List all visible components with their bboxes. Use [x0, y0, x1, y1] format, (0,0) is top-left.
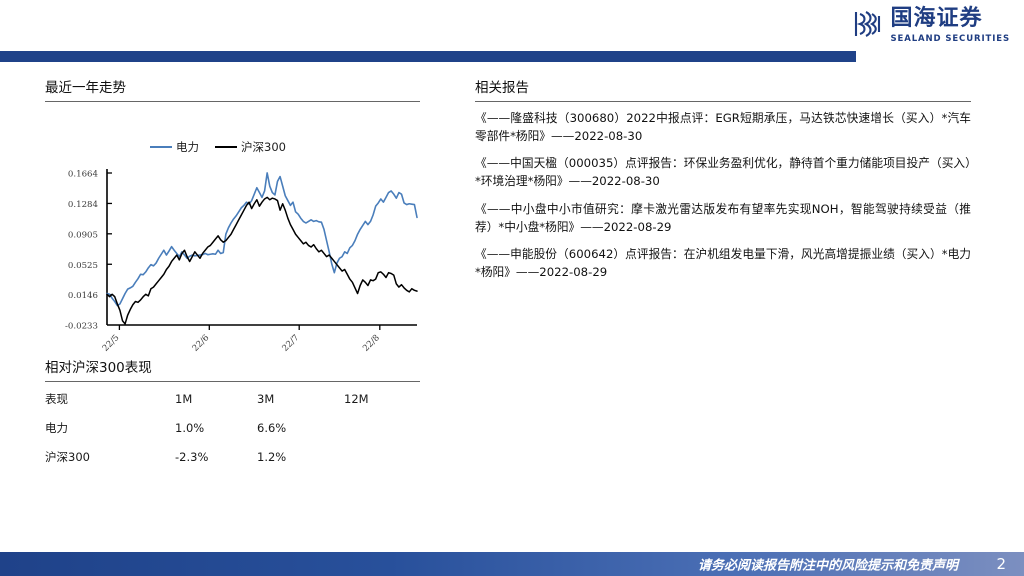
performance-table: 表现 1M 3M 12M 电力 1.0% 6.6% 沪深300 -2.3% 1.…: [45, 384, 420, 471]
svg-text:-0.0233: -0.0233: [65, 322, 98, 332]
svg-text:22/7: 22/7: [281, 333, 302, 354]
svg-text:0.0905: 0.0905: [68, 230, 98, 240]
performance-title-divider: [45, 381, 420, 382]
svg-text:0.1284: 0.1284: [68, 200, 99, 210]
row-label-power: 电力: [45, 413, 175, 442]
table-row: 电力 1.0% 6.6%: [45, 413, 420, 442]
logo-chinese-name: 国海证券: [891, 8, 983, 30]
svg-text:22/5: 22/5: [101, 333, 122, 354]
performance-title: 相对沪深300表现: [45, 356, 420, 376]
table-row: 沪深300 -2.3% 1.2%: [45, 442, 420, 471]
chart-title: 最近一年走势: [45, 76, 420, 96]
list-item[interactable]: 《——隆盛科技（300680）2022中报点评：EGR短期承压，马达铁芯快速增长…: [475, 109, 971, 145]
svg-text:0.1664: 0.1664: [68, 170, 99, 180]
header-cell-1m: 1M: [175, 384, 257, 413]
svg-text:22/6: 22/6: [191, 333, 212, 354]
row-power-1m: 1.0%: [175, 413, 257, 442]
svg-text:22/8: 22/8: [361, 333, 382, 354]
list-item[interactable]: 《——中国天楹（000035）点评报告：环保业务盈利优化，静待首个重力储能项目投…: [475, 154, 971, 190]
trend-chart: 电力 沪深300 0.16640.12840.09050.05250.0146-…: [45, 106, 420, 361]
performance-panel: 相对沪深300表现 表现 1M 3M 12M 电力 1.0% 6.6% 沪深30…: [45, 356, 420, 471]
table-header-row: 表现 1M 3M 12M: [45, 384, 420, 413]
header-accent-bar: [0, 51, 856, 62]
footer-bar: 请务必阅读报告附注中的风险提示和免责声明 2: [0, 552, 1024, 576]
row-csi300-1m: -2.3%: [175, 442, 257, 471]
related-reports-list: 《——隆盛科技（300680）2022中报点评：EGR短期承压，马达铁芯快速增长…: [475, 109, 971, 281]
chart-panel: 最近一年走势 电力 沪深300 0.16640.12840.09050.0525…: [45, 76, 420, 361]
sealand-logo-mark: [852, 8, 884, 40]
list-item[interactable]: 《——中小盘中小市值研究：摩卡激光雷达版发布有望率先实现NOH，智能驾驶持续受益…: [475, 200, 971, 236]
row-csi300-3m: 1.2%: [257, 442, 344, 471]
header-cell-metric: 表现: [45, 384, 175, 413]
chart-plot-svg: 0.16640.12840.09050.05250.0146-0.023322/…: [45, 106, 420, 361]
svg-text:0.0525: 0.0525: [68, 261, 98, 271]
row-power-3m: 6.6%: [257, 413, 344, 442]
row-power-12m: [344, 413, 420, 442]
related-reports-title: 相关报告: [475, 76, 971, 96]
related-reports-panel: 相关报告 《——隆盛科技（300680）2022中报点评：EGR短期承压，马达铁…: [475, 76, 971, 281]
related-reports-divider: [475, 101, 971, 102]
row-label-csi300: 沪深300: [45, 442, 175, 471]
header-cell-3m: 3M: [257, 384, 344, 413]
brand-logo: 国海证券 SEALAND SECURITIES: [852, 8, 1011, 44]
list-item[interactable]: 《——申能股份（600642）点评报告：在沪机组发电量下滑，风光高增提振业绩（买…: [475, 245, 971, 281]
page-number: 2: [996, 555, 1006, 573]
footer-disclaimer: 请务必阅读报告附注中的风险提示和免责声明: [698, 555, 958, 574]
chart-title-divider: [45, 101, 420, 102]
logo-english-name: SEALAND SECURITIES: [891, 35, 1011, 44]
row-csi300-12m: [344, 442, 420, 471]
header-cell-12m: 12M: [344, 384, 420, 413]
svg-text:0.0146: 0.0146: [68, 291, 98, 301]
